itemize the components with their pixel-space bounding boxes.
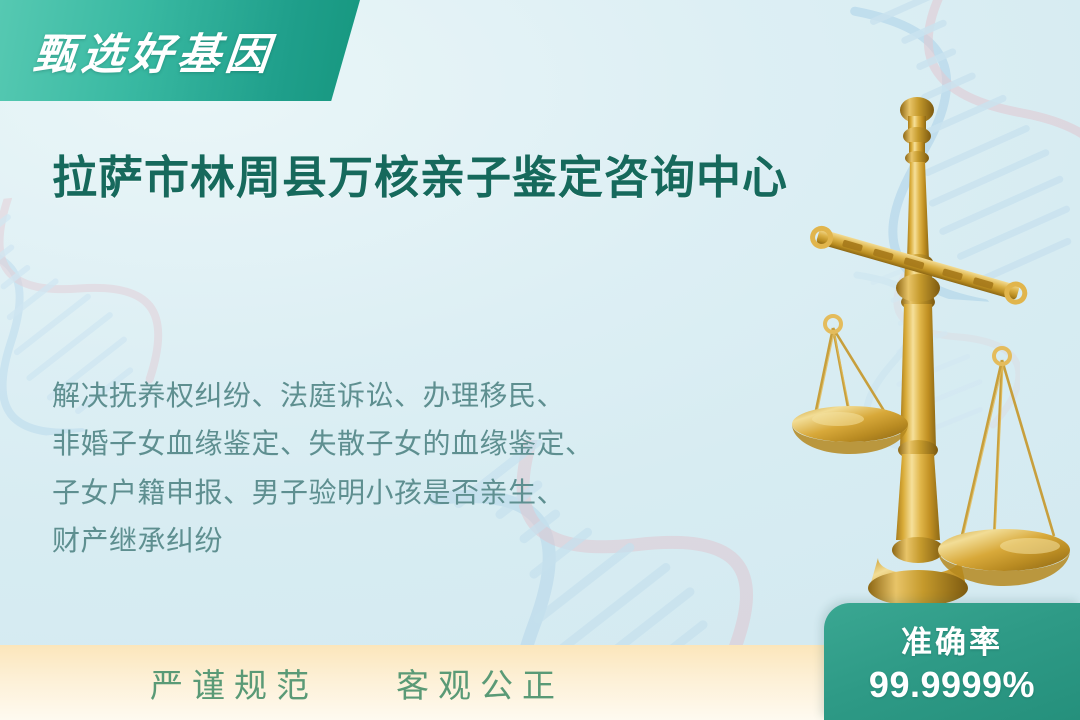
services-line: 子女户籍申报、男子验明小孩是否亲生、 — [52, 469, 752, 517]
services-line: 解决抚养权纠纷、法庭诉讼、办理移民、 — [52, 372, 752, 420]
page-title: 拉萨市林周县万核亲子鉴定咨询中心 — [52, 150, 852, 206]
footer-slogan-2: 客观公正 — [396, 659, 564, 707]
dna-helix-mid-right-icon — [830, 250, 1020, 450]
accuracy-label: 准确率 — [901, 617, 1003, 662]
services-line: 非婚子女血缘鉴定、失散子女的血缘鉴定、 — [52, 420, 752, 468]
footer-strip: 严谨规范 客观公正 — [0, 645, 830, 720]
accuracy-badge: 准确率 99.9999% — [824, 603, 1080, 720]
footer-slogans: 严谨规范 客观公正 — [0, 645, 830, 720]
accuracy-value: 99.9999% — [869, 664, 1035, 706]
brand-banner: 甄选好基因 — [0, 0, 360, 101]
services-description: 解决抚养权纠纷、法庭诉讼、办理移民、 非婚子女血缘鉴定、失散子女的血缘鉴定、 子… — [52, 372, 752, 566]
brand-banner-text: 甄选好基因 — [31, 20, 278, 82]
services-line: 财产继承纠纷 — [52, 517, 752, 565]
footer-slogan-1: 严谨规范 — [150, 659, 318, 707]
poster-canvas: 甄选好基因 拉萨市林周县万核亲子鉴定咨询中心 解决抚养权纠纷、法庭诉讼、办理移民… — [0, 0, 1080, 720]
